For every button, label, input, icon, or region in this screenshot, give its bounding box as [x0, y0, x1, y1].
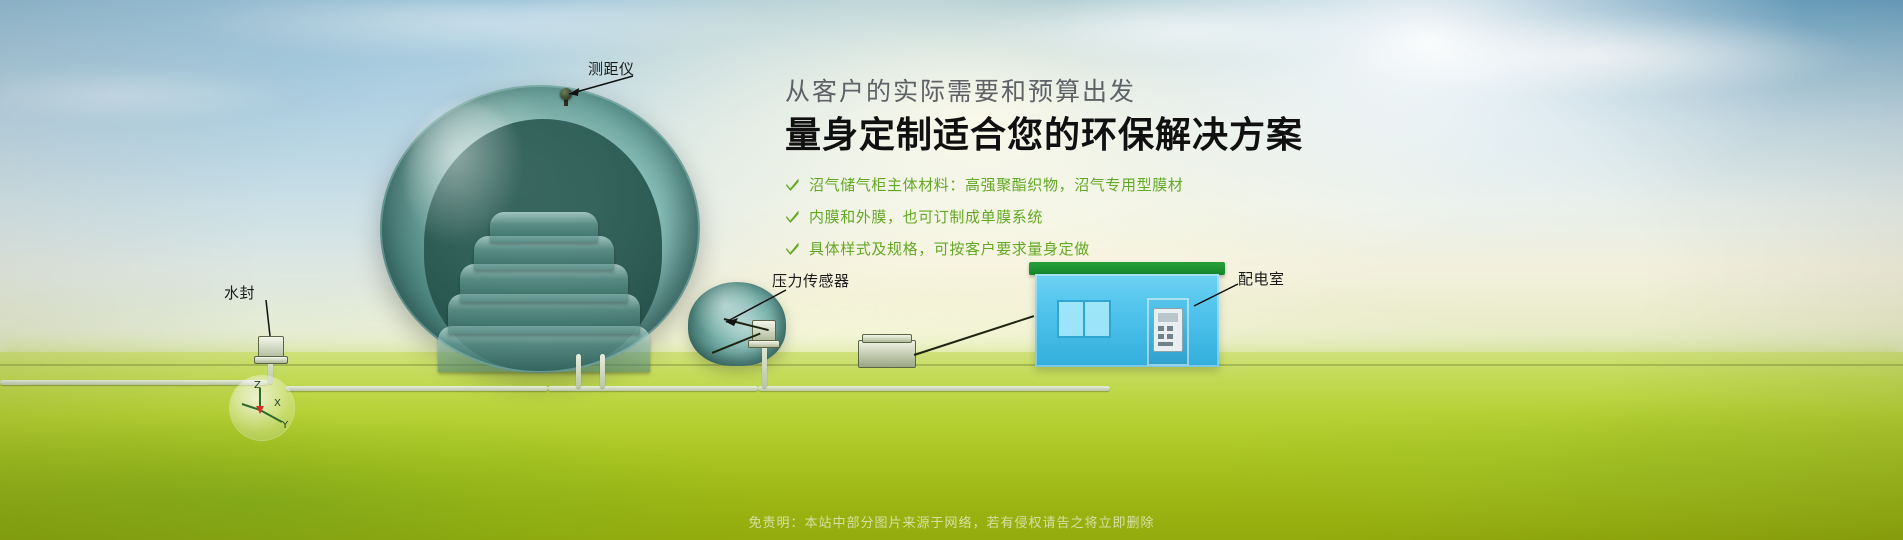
- callout-water-seal-leader: [258, 300, 282, 342]
- marketing-panel: 从客户的实际需要和预算出发 量身定制适合您的环保解决方案 沼气储气柜主体材料：高…: [785, 76, 1345, 270]
- svg-text:Z: Z: [254, 380, 261, 391]
- dome-rim: [380, 85, 700, 373]
- feature-list: 沼气储气柜主体材料：高强聚酯织物，沼气专用型膜材 内膜和外膜，也可订制成单膜系统…: [785, 174, 1345, 259]
- check-mark-icon: [785, 209, 800, 224]
- compressor-skid: [858, 340, 916, 368]
- panel-heading: 量身定制适合您的环保解决方案: [785, 113, 1345, 158]
- callout-water-seal-label: 水封: [224, 284, 255, 302]
- callout-rangefinder-leader: [555, 74, 645, 100]
- banner-scene: Z X Y 测距仪 水封 压力传感器 配电室 从客户的实际需要和预算出发 量身定…: [0, 0, 1903, 540]
- list-item: 内膜和外膜，也可订制成单膜系统: [785, 206, 1345, 227]
- list-item-label: 具体样式及规格，可按客户要求量身定做: [809, 238, 1090, 259]
- gas-holder-dome: [380, 85, 700, 373]
- pipe-riser: [576, 354, 581, 388]
- callout-power-room-label: 配电室: [1238, 270, 1285, 288]
- list-item: 具体样式及规格，可按客户要求量身定做: [785, 238, 1345, 259]
- main-pipe: [0, 380, 268, 385]
- check-mark-icon: [785, 177, 800, 192]
- water-seal-base: [254, 356, 288, 364]
- callout-power-room: 配电室: [1238, 268, 1285, 289]
- callout-power-room-leader: [1188, 280, 1244, 312]
- control-panel-icon: [1153, 308, 1183, 352]
- axis-gizmo-icon: Z X Y: [230, 376, 294, 440]
- list-item-label: 内膜和外膜，也可订制成单膜系统: [809, 206, 1043, 227]
- callout-water-seal: 水封: [224, 282, 255, 303]
- svg-text:X: X: [274, 398, 281, 409]
- pipe-riser: [600, 354, 605, 388]
- pipe-segment: [286, 386, 548, 391]
- axis-gizmo: Z X Y: [230, 376, 294, 440]
- panel-subheading: 从客户的实际需要和预算出发: [785, 76, 1345, 109]
- compressor-top: [862, 334, 912, 343]
- ground-line: [0, 364, 1903, 366]
- house-door: [1147, 298, 1189, 366]
- list-item: 沼气储气柜主体材料：高强聚酯织物，沼气专用型膜材: [785, 174, 1345, 195]
- pressure-sensor-base: [748, 340, 780, 348]
- svg-text:Y: Y: [281, 420, 289, 431]
- check-mark-icon: [785, 241, 800, 256]
- callout-pressure-sensor-leader: [700, 288, 790, 330]
- disclaimer-text: 免责明：本站中部分图片来源于网络，若有侵权请告之将立即删除: [0, 512, 1903, 531]
- house-window: [1057, 300, 1111, 338]
- list-item-label: 沼气储气柜主体材料：高强聚酯织物，沼气专用型膜材: [809, 174, 1183, 195]
- pipe-segment: [758, 386, 1110, 391]
- power-distribution-room: [1035, 262, 1219, 367]
